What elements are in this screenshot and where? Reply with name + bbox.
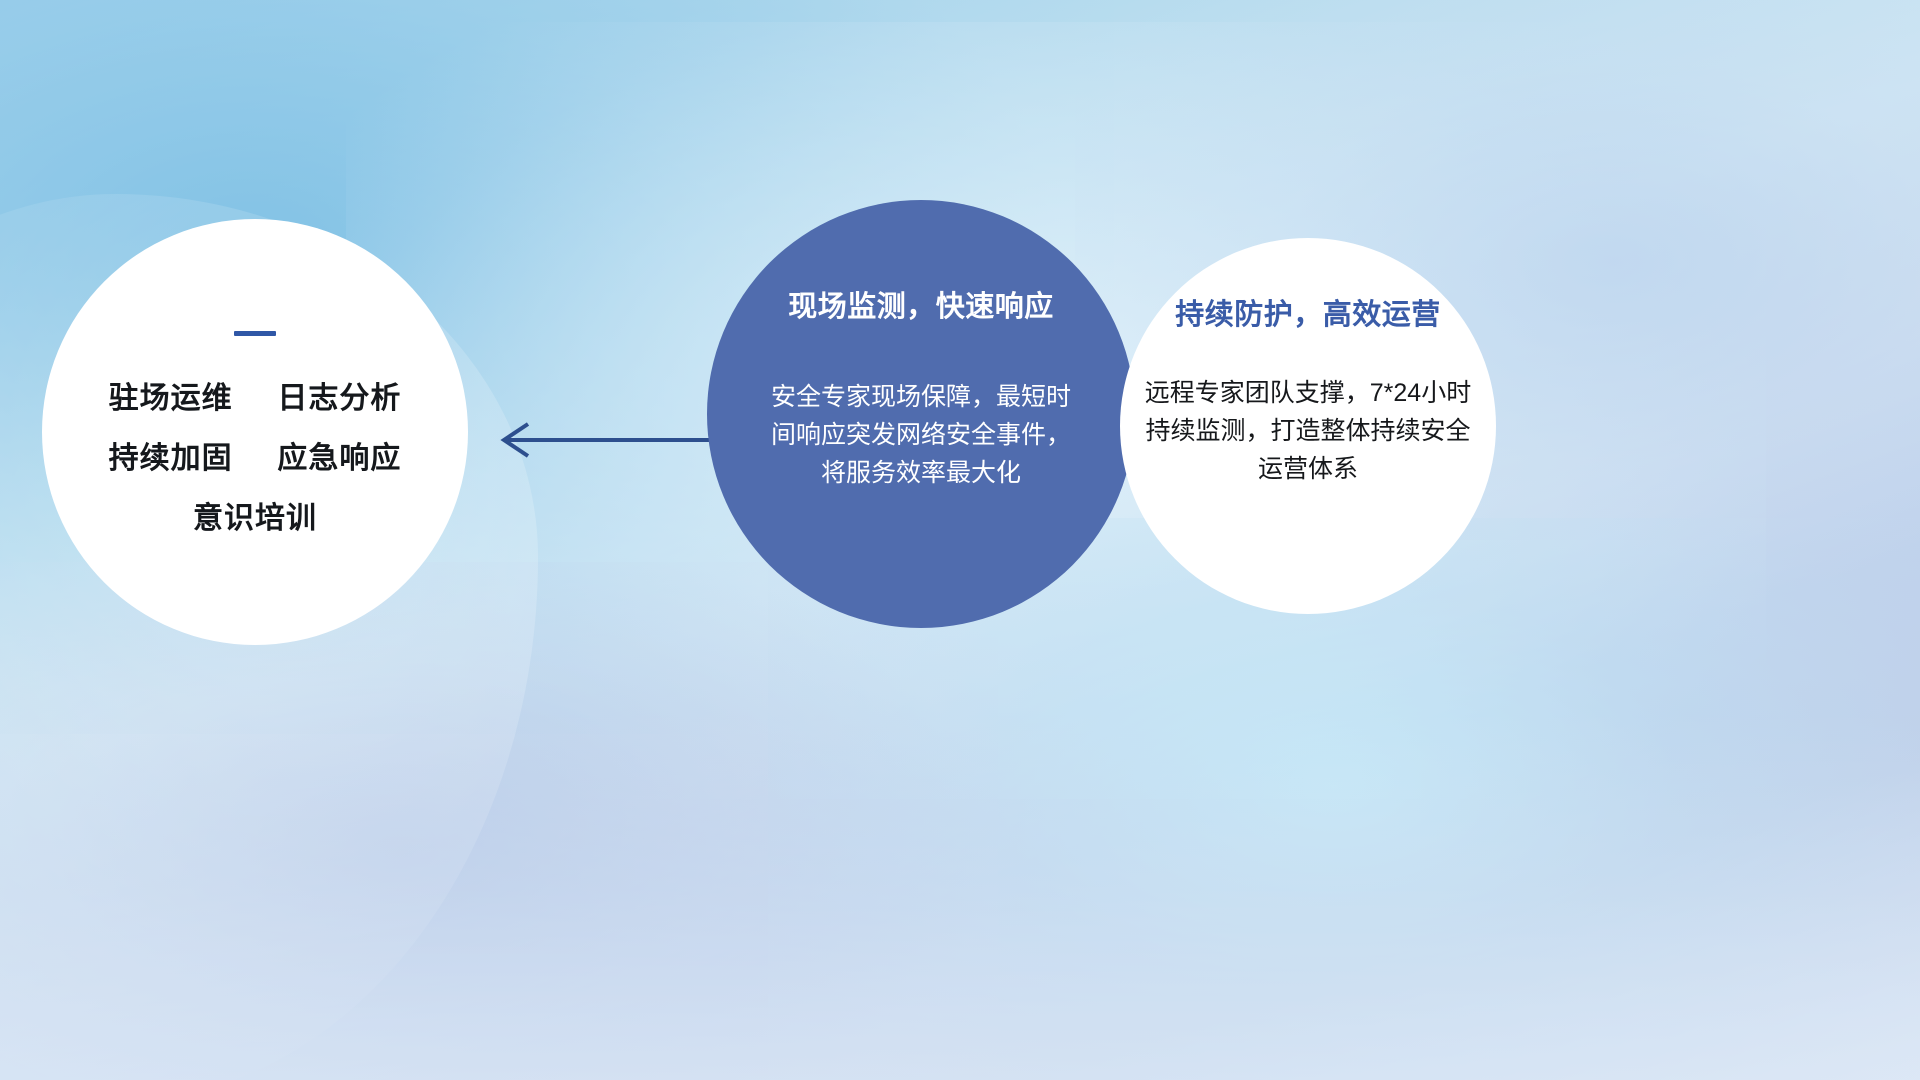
capability-circle[interactable]: 驻场运维 日志分析 持续加固 应急响应 意识培训	[42, 219, 468, 645]
onsite-monitoring-title: 现场监测，快速响应	[788, 292, 1054, 324]
continuous-protection-body: 远程专家团队支撑，7*24小时持续监测，打造整体持续安全运营体系	[1142, 374, 1474, 488]
capability-item-3: 持续加固	[109, 442, 233, 475]
continuous-protection-circle[interactable]: 持续防护，高效运营 远程专家团队支撑，7*24小时持续监测，打造整体持续安全运营…	[1120, 238, 1496, 614]
background-bottom-haze	[0, 713, 1920, 1080]
capability-item-5: 意识培训	[193, 502, 317, 535]
divider-dash	[234, 331, 276, 336]
capability-row-1: 驻场运维 日志分析	[109, 384, 402, 414]
capability-item-1: 驻场运维	[109, 382, 233, 415]
continuous-protection-title: 持续防护，高效运营	[1175, 300, 1441, 332]
capability-row-3: 意识培训	[193, 504, 317, 534]
slide-canvas: 驻场运维 日志分析 持续加固 应急响应 意识培训 现场监测，快速响应 安全专家现…	[0, 0, 1920, 1080]
capability-item-2: 日志分析	[277, 382, 401, 415]
capability-item-4: 应急响应	[277, 442, 401, 475]
onsite-monitoring-body: 安全专家现场保障，最短时间响应突发网络安全事件，将服务效率最大化	[771, 378, 1071, 492]
capability-row-2: 持续加固 应急响应	[109, 444, 402, 474]
onsite-monitoring-circle[interactable]: 现场监测，快速响应 安全专家现场保障，最短时间响应突发网络安全事件，将服务效率最…	[707, 200, 1135, 628]
